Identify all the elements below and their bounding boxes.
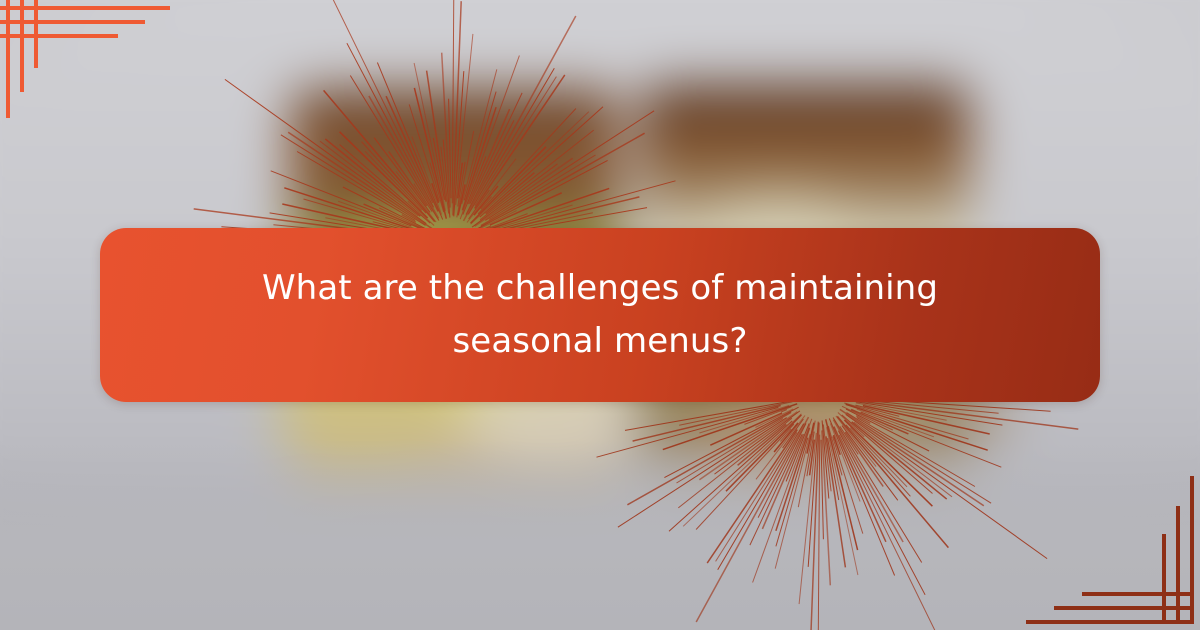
question-text: What are the challenges of maintaining s…: [220, 262, 980, 367]
corner-rule-vertical: [1162, 534, 1166, 624]
sunburst-ray: [850, 428, 907, 487]
sunburst-ray: [845, 400, 1002, 425]
corner-rule-vertical: [20, 0, 24, 92]
corner-rule-vertical: [34, 0, 38, 68]
corner-rule-horizontal: [0, 6, 170, 10]
sunburst-ray: [857, 418, 975, 487]
corner-decoration-top-left: [0, 0, 200, 200]
corner-rule-horizontal: [1082, 592, 1194, 596]
question-banner: What are the challenges of maintaining s…: [100, 228, 1100, 402]
sunburst-ray: [818, 435, 820, 630]
sunburst-ray: [852, 422, 947, 499]
corner-rule-horizontal: [1026, 620, 1194, 624]
corner-rule-vertical: [1176, 506, 1180, 624]
corner-rule-vertical: [6, 0, 10, 118]
social-card: What are the challenges of maintaining s…: [0, 0, 1200, 630]
sunburst-ray: [696, 417, 808, 622]
corner-rule-horizontal: [0, 34, 118, 38]
sunburst-ray: [847, 413, 992, 504]
corner-rule-horizontal: [1054, 606, 1194, 610]
corner-decoration-bottom-right: [1000, 430, 1200, 630]
sunburst-ray: [753, 419, 812, 583]
corner-rule-vertical: [1190, 476, 1194, 624]
sunburst-ray: [840, 409, 984, 505]
sunburst-ray: [838, 431, 925, 595]
